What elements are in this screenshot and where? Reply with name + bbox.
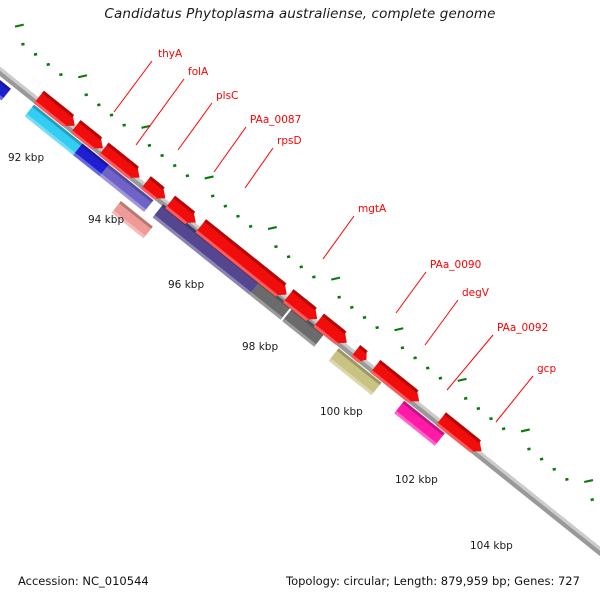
tick-minor <box>363 317 366 318</box>
gene-label-PAa_0087[interactable]: PAa_0087 <box>250 114 301 126</box>
accession-text: Accession: NC_010544 <box>18 574 149 588</box>
tick-major <box>458 379 467 381</box>
gene-label-gcp[interactable]: gcp <box>537 363 556 375</box>
tick-minor <box>553 469 556 470</box>
tick-major <box>78 75 87 77</box>
tick-minor <box>376 327 379 328</box>
coordinate-label: 100 kbp <box>320 406 363 418</box>
leader-line-mgtA <box>323 216 354 259</box>
tick-minor <box>123 125 126 126</box>
leader-line-gcp <box>496 376 533 422</box>
tick-minor <box>338 297 341 298</box>
leader-line-PAa_0087 <box>214 127 246 172</box>
cds-top-highlight <box>196 230 278 297</box>
gene-label-plsC[interactable]: plsC <box>216 90 238 102</box>
gene-labels[interactable]: thyAfolAplsCPAa_0087rpsDmgtAPAa_0090degV… <box>158 48 556 375</box>
tick-minor <box>249 226 252 227</box>
tick-major <box>584 480 593 482</box>
tick-minor <box>527 449 530 450</box>
tick-minor <box>173 165 176 166</box>
tick-minor <box>414 358 417 359</box>
tick-minor <box>224 206 227 207</box>
tick-minor <box>477 408 480 409</box>
gene-label-thyA[interactable]: thyA <box>158 48 183 60</box>
tick-minor <box>236 216 239 217</box>
leader-line-degV <box>425 300 458 345</box>
tick-minor <box>21 44 24 45</box>
tick-minor <box>300 266 303 267</box>
tick-minor <box>426 368 429 369</box>
leader-line-PAa_0092 <box>447 335 493 390</box>
tick-major <box>394 328 403 330</box>
tick-minor <box>401 347 404 348</box>
tick-major <box>15 25 24 27</box>
leader-line-thyA <box>114 61 152 112</box>
tick-major <box>521 429 530 431</box>
coordinate-label: 102 kbp <box>395 474 438 486</box>
coordinate-label: 94 kbp <box>88 214 124 226</box>
genome-stats-text: Topology: circular; Length: 879,959 bp; … <box>286 574 580 588</box>
tick-minor <box>85 94 88 95</box>
leader-line-rpsD <box>245 148 273 188</box>
coordinate-labels: 92 kbp94 kbp96 kbp98 kbp100 kbp102 kbp10… <box>8 152 513 552</box>
tick-minor <box>591 499 594 500</box>
tick-minor <box>439 378 442 379</box>
gene-label-PAa_0092[interactable]: PAa_0092 <box>497 322 548 334</box>
coordinate-label: 98 kbp <box>242 341 278 353</box>
tick-minor <box>312 277 315 278</box>
gene-track-lower[interactable] <box>34 91 482 453</box>
tick-minor <box>34 54 37 55</box>
tick-minor <box>274 246 277 247</box>
tick-minor <box>148 145 151 146</box>
tick-minor <box>110 115 113 116</box>
tick-minor <box>97 105 100 106</box>
coordinate-label: 92 kbp <box>8 152 44 164</box>
leader-line-PAa_0090 <box>396 272 426 313</box>
gene-label-leaders <box>114 61 533 422</box>
tick-major <box>268 227 277 229</box>
gene-label-rpsD[interactable]: rpsD <box>277 135 302 147</box>
gene-label-degV[interactable]: degV <box>462 287 490 299</box>
tick-minor <box>540 459 543 460</box>
gene-label-mgtA[interactable]: mgtA <box>358 203 387 215</box>
tick-minor <box>464 398 467 399</box>
genome-map-viewer: Candidatus Phytoplasma australiense, com… <box>0 0 600 600</box>
tick-major <box>205 176 214 178</box>
leader-line-folA <box>136 79 184 145</box>
tick-minor <box>211 196 214 197</box>
tick-minor <box>186 175 189 176</box>
tick-minor <box>565 479 568 480</box>
gene-label-PAa_0090[interactable]: PAa_0090 <box>430 259 481 271</box>
tick-minor <box>489 418 492 419</box>
tick-minor <box>502 428 505 429</box>
gene-label-folA[interactable]: folA <box>188 66 209 78</box>
tick-minor <box>47 64 50 65</box>
coordinate-label: 104 kbp <box>470 540 513 552</box>
tick-minor <box>287 256 290 257</box>
leader-line-plsC <box>178 103 212 150</box>
tick-minor <box>59 74 62 75</box>
tick-minor <box>161 155 164 156</box>
genome-map-canvas[interactable]: thyAfolAplsCPAa_0087rpsDmgtAPAa_0090degV… <box>0 0 600 600</box>
tick-major <box>331 278 340 280</box>
tick-minor <box>350 307 353 308</box>
coordinate-label: 96 kbp <box>168 279 204 291</box>
